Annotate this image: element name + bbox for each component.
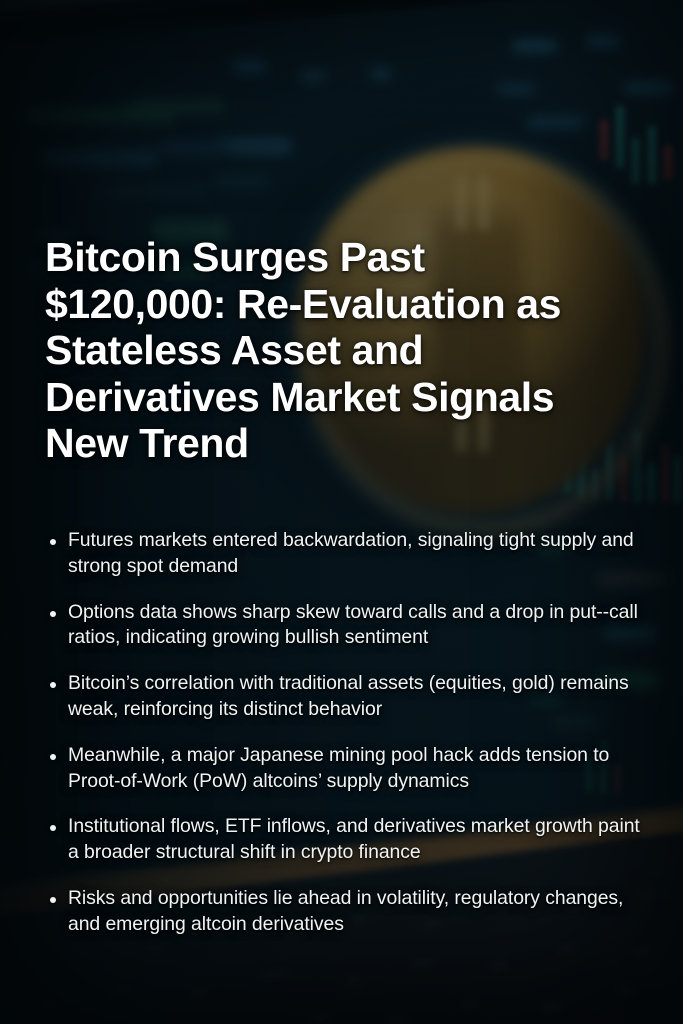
list-item: Institutional flows, ETF inflows, and de…	[45, 814, 645, 866]
list-item: Meanwhile, a major Japanese mining pool …	[45, 743, 645, 795]
list-item: Bitcoin’s correlation with traditional a…	[45, 671, 645, 723]
list-item: Options data shows sharp skew toward cal…	[45, 600, 645, 652]
list-item: Risks and opportunities lie ahead in vol…	[45, 886, 645, 938]
poster-canvas: Bitcoin Surges Past $120,000: Re-Evaluat…	[0, 0, 683, 1024]
poster-content: Bitcoin Surges Past $120,000: Re-Evaluat…	[0, 0, 683, 1024]
key-points-list: Futures markets entered backwardation, s…	[45, 528, 645, 938]
page-title: Bitcoin Surges Past $120,000: Re-Evaluat…	[45, 234, 605, 467]
list-item: Futures markets entered backwardation, s…	[45, 528, 645, 580]
